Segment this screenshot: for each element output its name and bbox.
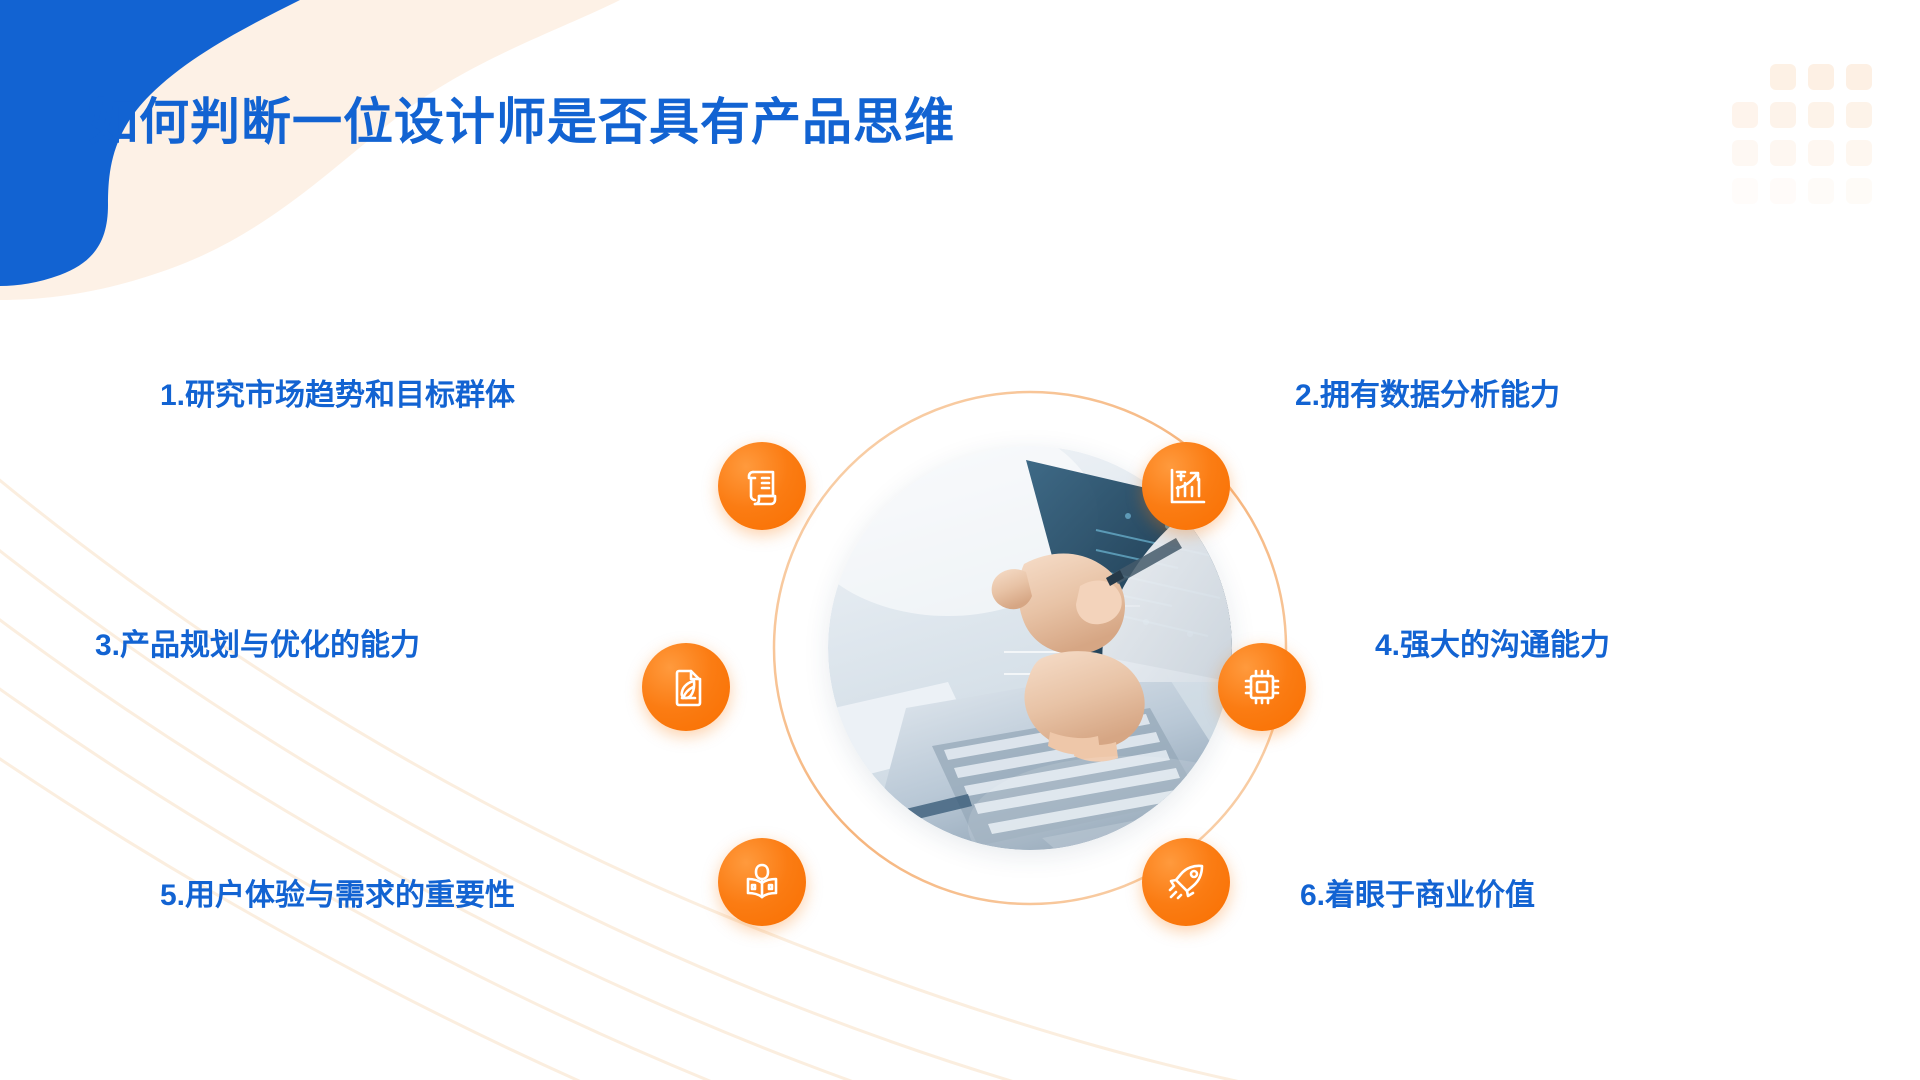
icon-bubble-4[interactable]	[1218, 643, 1306, 731]
item-label-2: 2.拥有数据分析能力	[1295, 370, 1560, 414]
item-label-6: 6.着眼于商业价值	[1300, 870, 1535, 914]
cpu-chip-icon	[1239, 664, 1285, 710]
icon-bubble-5[interactable]	[718, 838, 806, 926]
icon-bubble-2[interactable]	[1142, 442, 1230, 530]
bar-chart-growth-icon	[1163, 463, 1209, 509]
scroll-document-icon	[739, 463, 785, 509]
icon-bubble-1[interactable]	[718, 442, 806, 530]
corner-peach-wave	[0, 0, 620, 360]
item-label-4: 4.强大的沟通能力	[1375, 620, 1610, 664]
item-label-1: 1.研究市场趋势和目标群体	[160, 370, 515, 414]
rocket-icon	[1163, 859, 1209, 905]
document-pen-icon	[663, 664, 709, 710]
slide-canvas: 如何判断一位设计师是否具有产品思维	[0, 0, 1920, 1080]
item-label-3: 3.产品规划与优化的能力	[95, 620, 420, 664]
icon-bubble-3[interactable]	[642, 643, 730, 731]
item-label-5: 5.用户体验与需求的重要性	[160, 870, 515, 914]
person-reading-icon	[739, 859, 785, 905]
icon-bubble-6[interactable]	[1142, 838, 1230, 926]
dot-grid-decoration	[1732, 64, 1872, 204]
page-title: 如何判断一位设计师是否具有产品思维	[88, 82, 955, 154]
